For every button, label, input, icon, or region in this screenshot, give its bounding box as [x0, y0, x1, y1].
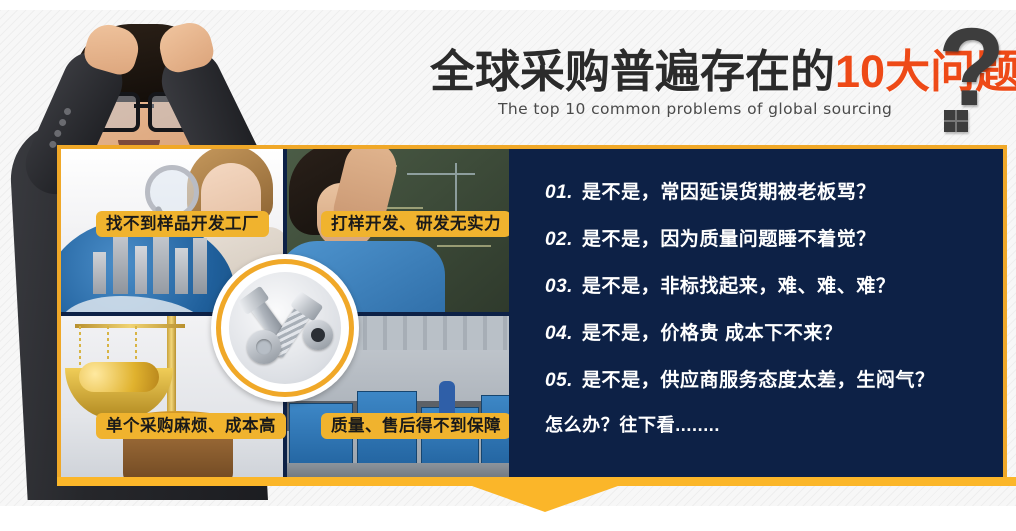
list-item-text: 是不是，价格贵 成本下不来？ [582, 323, 843, 344]
collage-label-purchase-cost: 单个采购麻烦、成本高 [96, 413, 286, 439]
title-line: 全球采购普遍存在的10大问题 [430, 44, 950, 100]
landmass-shape [61, 296, 211, 312]
image-collage: 找不到样品开发工厂 打样开发、研发无实力 单个采购麻烦、成本高 质量、售后得不到… [61, 149, 509, 479]
collage-label-quality-service: 质量、售后得不到保障 [321, 413, 511, 439]
scale-chain [79, 326, 81, 370]
list-item-text: 是不是，供应商服务态度太差，生闷气？ [582, 370, 935, 391]
list-item: 02.是不是，因为质量问题睡不着觉？ [545, 224, 876, 251]
list-item: 03.是不是，非标找起来，难、难、难？ [545, 271, 896, 298]
question-mark-dot-icon [944, 110, 968, 132]
bolts-nuts-icon [229, 272, 341, 384]
list-item-number: 01. [545, 182, 573, 203]
question-mark-icon: ? [938, 18, 1005, 118]
list-item-number: 05. [545, 370, 573, 391]
list-item: 01.是不是，常因延误货期被老板骂？ [545, 177, 876, 204]
list-item-text: 是不是，非标找起来，难、难、难？ [582, 276, 896, 297]
collage-label-rnd-capability: 打样开发、研发无实力 [321, 211, 511, 237]
center-badge [211, 254, 359, 402]
list-item-text: 是不是，常因延误货期被老板骂？ [582, 182, 876, 203]
collage-label-sample-factory: 找不到样品开发工厂 [96, 211, 269, 237]
page-title: 全球采购普遍存在的10大问题 [430, 44, 950, 104]
content-panel: 找不到样品开发工厂 打样开发、研发无实力 单个采购麻烦、成本高 质量、售后得不到… [57, 145, 1007, 483]
gold-nuggets [79, 362, 159, 392]
promo-banner: 全球采购普遍存在的10大问题 The top 10 common problem… [0, 0, 1016, 531]
badge-ring [216, 259, 354, 397]
list-item-number: 02. [545, 229, 573, 250]
nut-shape [247, 330, 281, 364]
list-footer: 怎么办？往下看........ [545, 411, 720, 437]
bottom-accent-bar [57, 477, 1016, 486]
list-item-text: 是不是，因为质量问题睡不着觉？ [582, 229, 876, 250]
title-main: 全球采购普遍存在的 [430, 46, 835, 97]
scale-beam [75, 324, 185, 328]
list-footer-text: 怎么办？往下看........ [545, 415, 720, 435]
list-item: 04.是不是，价格贵 成本下不来？ [545, 318, 843, 345]
list-item: 05.是不是，供应商服务态度太差，生闷气？ [545, 365, 935, 392]
list-item-number: 04. [545, 323, 573, 344]
nut-shape [303, 320, 333, 350]
list-item-number: 03. [545, 276, 573, 297]
problem-list: 01.是不是，常因延误货期被老板骂？ 02.是不是，因为质量问题睡不着觉？ 03… [509, 149, 1003, 479]
page-subtitle: The top 10 common problems of global sou… [498, 100, 892, 118]
header: 全球采购普遍存在的10大问题 The top 10 common problem… [0, 0, 1016, 145]
